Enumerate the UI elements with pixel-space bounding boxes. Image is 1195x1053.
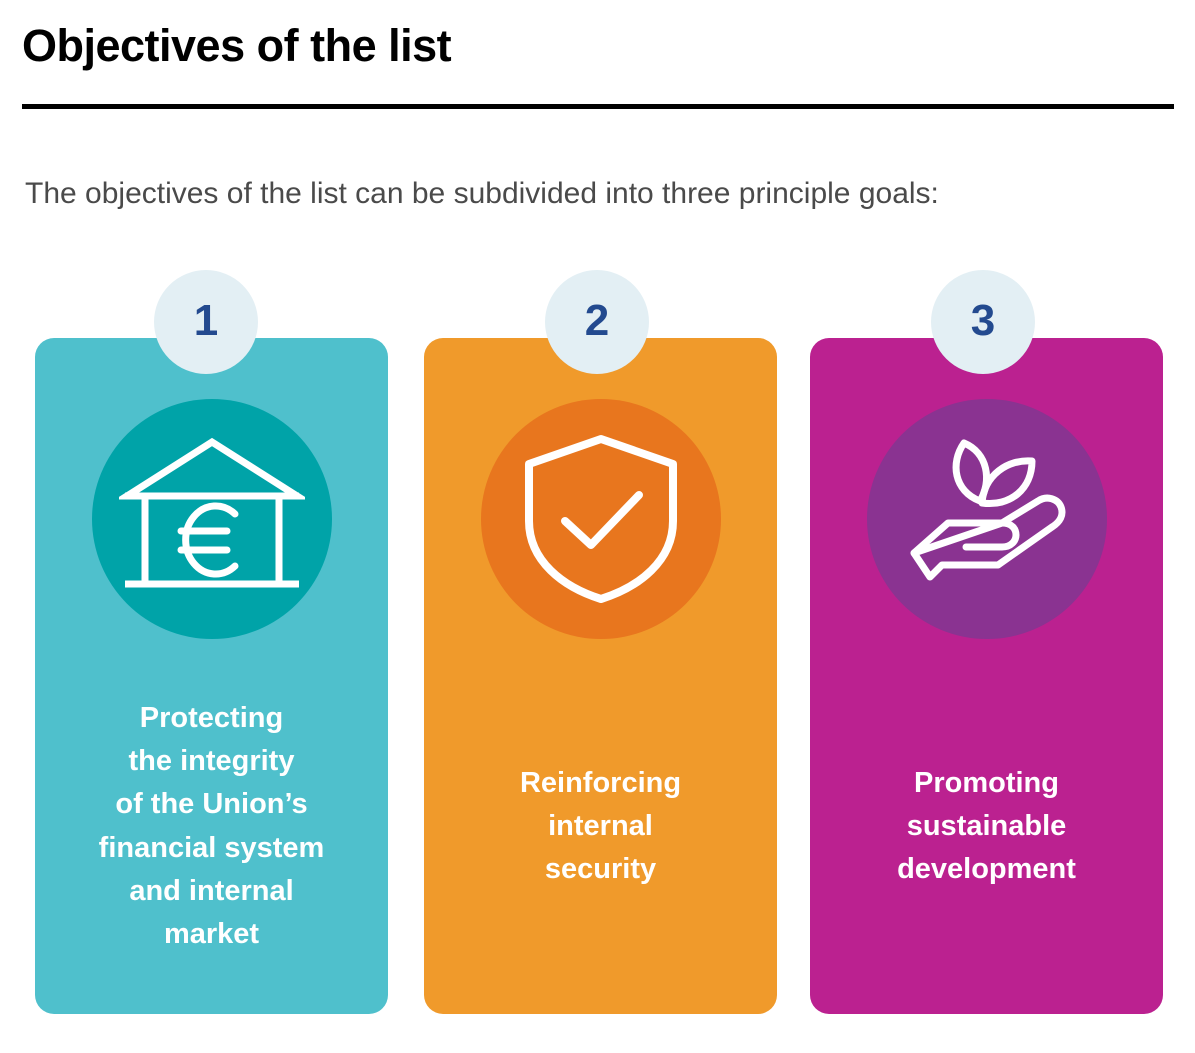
goal-card-1[interactable]: Protecting the integrity of the Union’s … xyxy=(35,338,388,1014)
goal-card-3-caption: Promoting sustainable development xyxy=(810,762,1163,892)
goal-card-3[interactable]: Promoting sustainable development xyxy=(810,338,1163,1014)
hand-leaves-icon xyxy=(892,429,1082,609)
goal-card-1-caption: Protecting the integrity of the Union’s … xyxy=(35,697,388,956)
goal-badge-2-number: 2 xyxy=(585,299,609,343)
goal-card-2-icon-disc xyxy=(481,399,721,639)
goal-card-3-icon-disc xyxy=(867,399,1107,639)
goal-card-1-icon-disc xyxy=(92,399,332,639)
bank-euro-icon xyxy=(119,434,305,604)
goal-cards-container: Protecting the integrity of the Union’s … xyxy=(0,0,1195,1053)
goal-badge-3-number: 3 xyxy=(971,299,995,343)
goal-card-2-caption: Reinforcing internal security xyxy=(424,762,777,892)
shield-check-icon xyxy=(521,433,681,605)
goal-badge-1: 1 xyxy=(154,270,258,374)
goal-badge-2: 2 xyxy=(545,270,649,374)
goal-badge-1-number: 1 xyxy=(194,299,218,343)
goal-badge-3: 3 xyxy=(931,270,1035,374)
goal-card-2[interactable]: Reinforcing internal security xyxy=(424,338,777,1014)
infographic-page: Objectives of the list The objectives of… xyxy=(0,0,1195,1053)
